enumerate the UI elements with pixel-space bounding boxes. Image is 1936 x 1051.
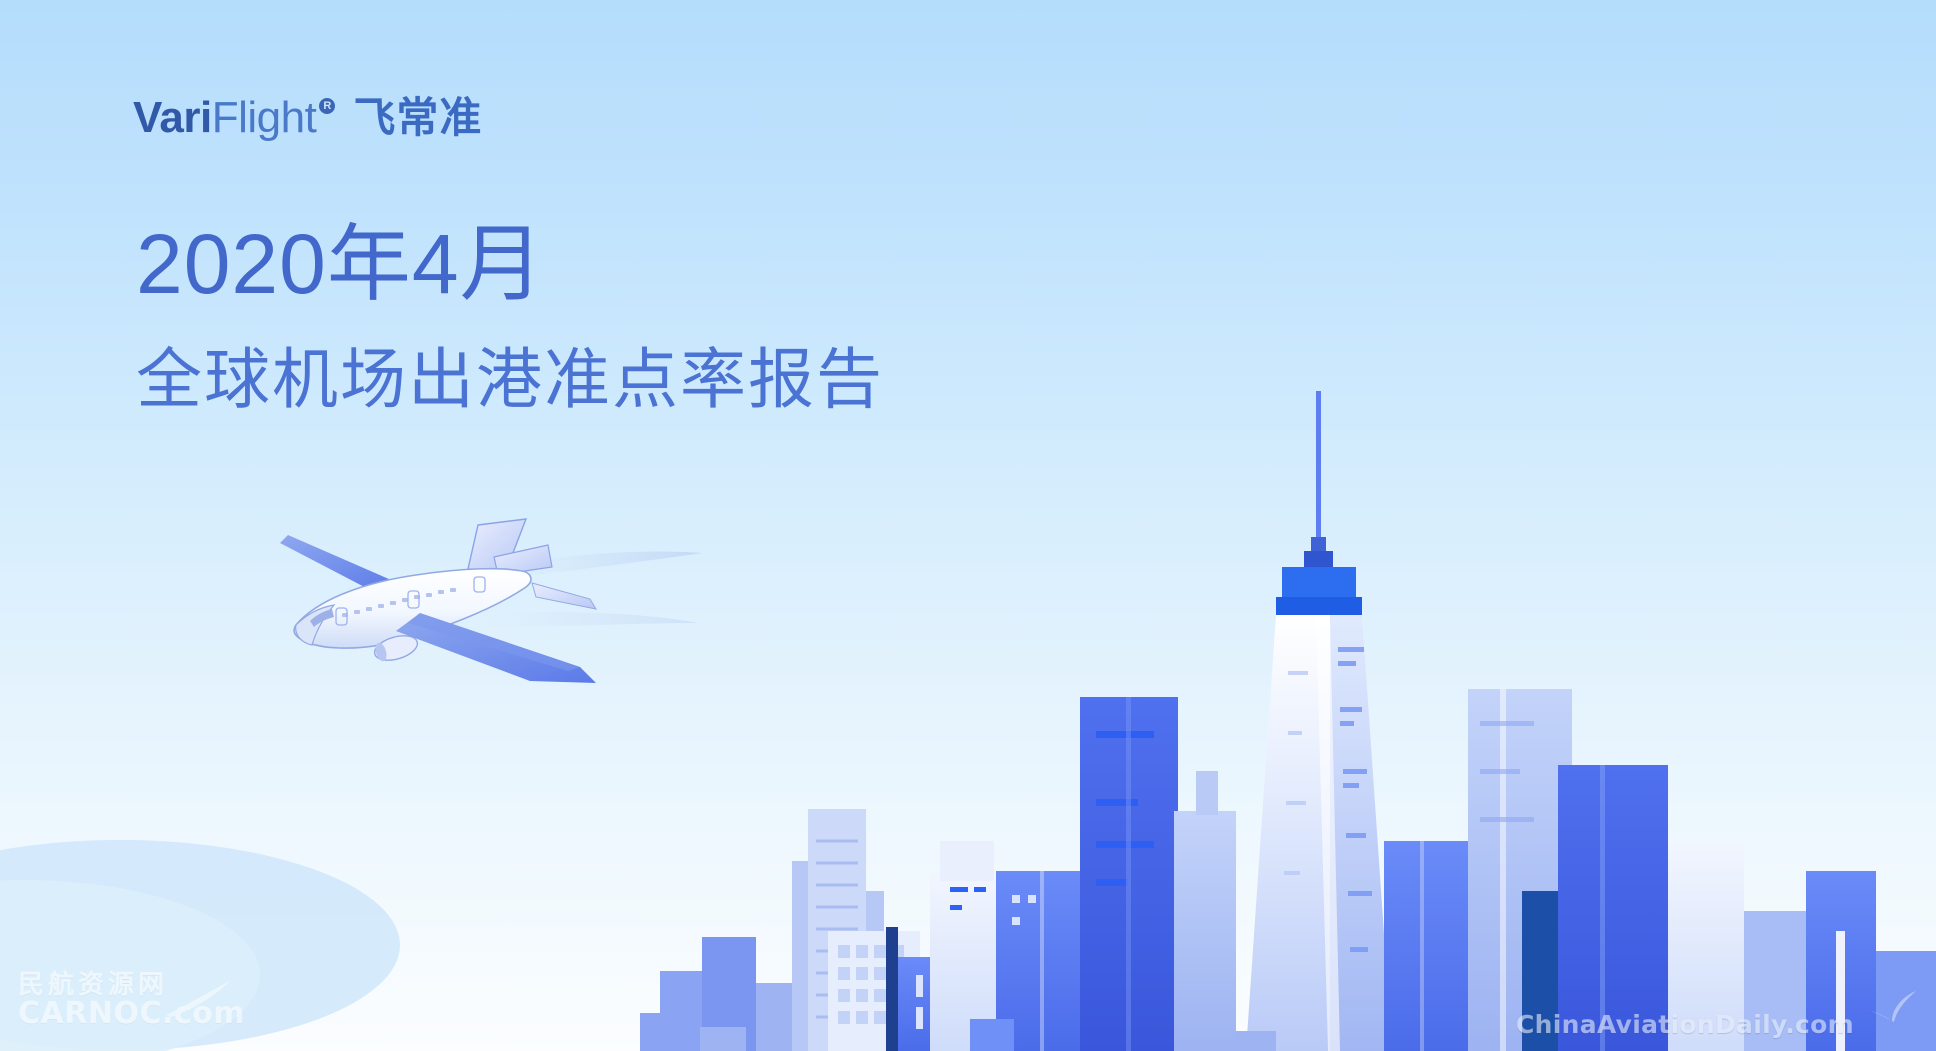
- logo-text-flight: Flight: [212, 96, 317, 140]
- variflight-logo[interactable]: VariFlightR 飞常准: [133, 96, 482, 140]
- logo-text-vari: Vari: [133, 96, 212, 140]
- city-skyline-illustration: [640, 371, 1936, 1051]
- page-title: 2020年4月: [136, 222, 545, 306]
- report-cover-page: VariFlightR 飞常准 2020年4月 全球机场出港准点率报告: [0, 0, 1936, 1051]
- registered-trademark-icon: R: [319, 98, 335, 114]
- logo-text-chinese: 飞常准: [353, 97, 482, 139]
